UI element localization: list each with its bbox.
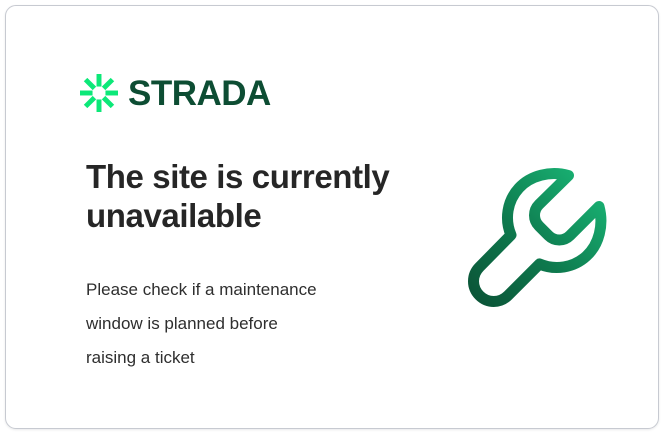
strada-asterisk-icon (80, 74, 118, 112)
description-line: window is planned before (86, 307, 396, 341)
status-card: STRADA The site is currently unavailable… (5, 5, 659, 429)
description-line: raising a ticket (86, 341, 396, 375)
wrench-icon (458, 159, 623, 319)
brand-logo-lockup[interactable]: STRADA (80, 74, 271, 112)
page-title: The site is currently unavailable (86, 158, 416, 235)
page-root: STRADA The site is currently unavailable… (0, 0, 666, 436)
description-line: Please check if a maintenance (86, 273, 396, 307)
brand-wordmark: STRADA (128, 76, 271, 111)
status-description: Please check if a maintenance window is … (86, 273, 396, 375)
